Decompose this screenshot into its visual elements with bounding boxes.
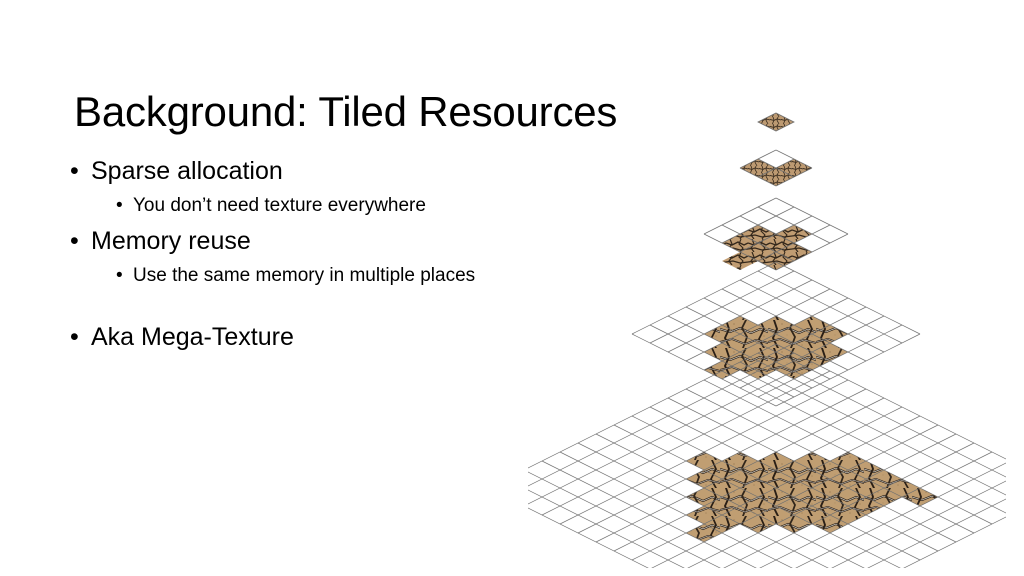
texture-tile	[758, 113, 794, 131]
bullet-list: •Sparse allocation•You don’t need textur…	[70, 152, 590, 356]
bullet-item-level-2: •You don’t need texture everywhere	[116, 190, 590, 222]
bullet-text: You don’t need texture everywhere	[133, 190, 590, 222]
bullet-marker-icon: •	[116, 190, 133, 222]
slide-canvas: Background: Tiled Resources •Sparse allo…	[0, 0, 1024, 576]
bullet-item-level-2: •Use the same memory in multiple places	[116, 260, 590, 292]
mip-level-4-grid-lines	[528, 344, 1006, 568]
bullet-marker-icon: •	[70, 318, 91, 356]
mip-level-3	[632, 262, 920, 406]
mip-level-3-grid-lines	[632, 262, 920, 406]
mip-level-2	[704, 198, 848, 270]
mip-level-1	[740, 150, 812, 186]
bullet-marker-icon: •	[70, 152, 91, 190]
bullet-marker-icon: •	[116, 260, 133, 292]
bullet-text: Memory reuse	[91, 222, 590, 260]
mip-level-1-filled-tiles	[740, 159, 812, 186]
bullet-marker-icon: •	[70, 222, 91, 260]
bullet-spacer	[70, 292, 590, 318]
bullet-item-level-1: •Sparse allocation	[70, 152, 590, 190]
bullet-item-level-1: •Memory reuse	[70, 222, 590, 260]
mip-level-4-filled-tiles	[686, 452, 938, 542]
bullet-text: Aka Mega-Texture	[91, 318, 590, 356]
mip-level-4	[528, 344, 1006, 568]
bullet-item-level-1: •Aka Mega-Texture	[70, 318, 590, 356]
mip-level-0	[758, 113, 794, 131]
mip-level-0-filled-tiles	[758, 113, 794, 131]
bullet-text: Use the same memory in multiple places	[133, 260, 590, 292]
bullet-text: Sparse allocation	[91, 152, 590, 190]
mipmap-pyramid-illustration	[528, 96, 1006, 568]
tiled-resource-mipmap-pyramid-figure	[528, 96, 1006, 568]
